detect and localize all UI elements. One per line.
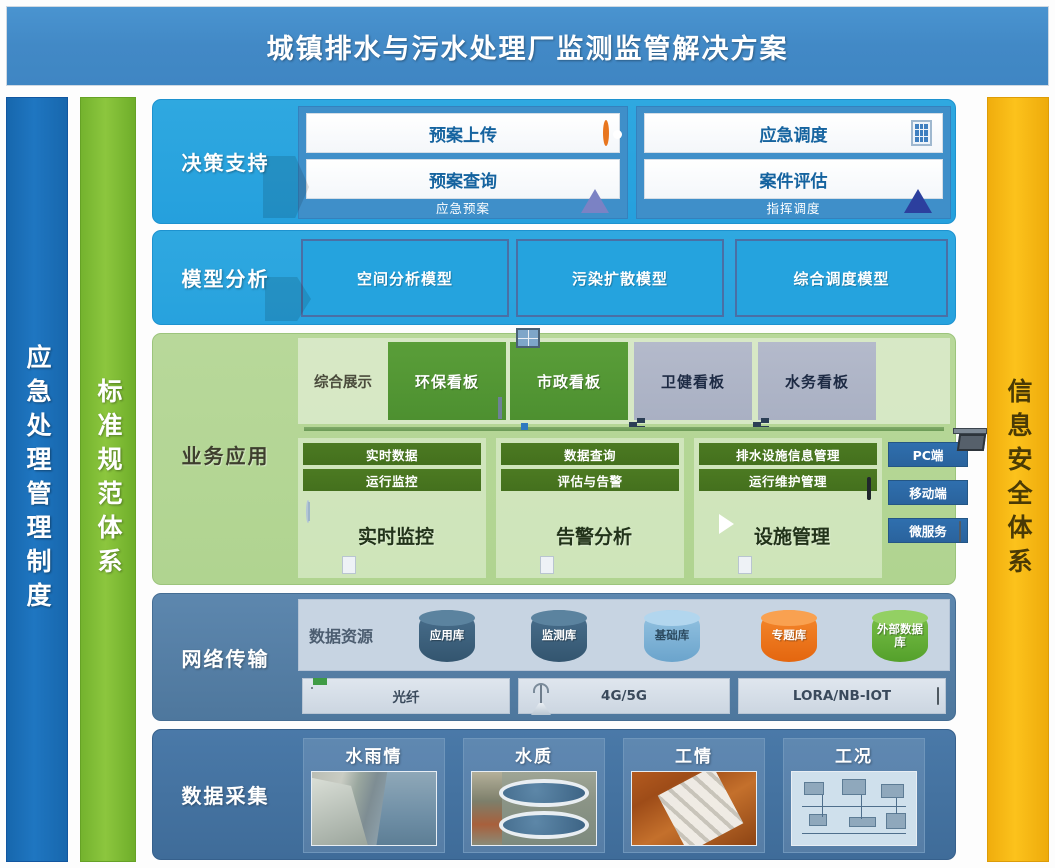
board-health-label: 卫健看板 [661,371,725,392]
diagram-title-bar: 城镇排水与污水处理厂监测监管解决方案 [6,6,1049,86]
business-feature-realtime-monitoring[interactable]: 实时监控 [298,500,486,570]
channel-lora-nbiot-label: LORA/NB-IOT [793,688,891,704]
layer-business-application: 业务应用 综合展示 环保看板 市政看板 卫健看板 水务看板 [152,333,956,585]
client-microservice-label: 微服务 [909,521,947,540]
emergency-dispatch-label: 应急调度 [760,121,828,146]
main-layers: 决策支持 预案上传 预案查询 应急预案 应急调度 [152,97,956,862]
database-application[interactable]: 应用库 [419,610,475,662]
data-collection-item-operating-condition[interactable]: 工况 [783,738,925,853]
layer-data-collection-label: 数据采集 [153,730,298,859]
window-icon [516,328,540,348]
photo-river-channel [311,771,437,846]
sidebar-information-security: 信息安全体系 [987,97,1049,862]
model-item-pollution-diffusion[interactable]: 污染扩散模型 [516,239,724,317]
layer-network-transmission-label: 网络传输 [153,594,298,720]
board-municipal-label: 市政看板 [537,371,601,392]
database-foundation[interactable]: 基础库 [644,610,700,662]
photo-treatment-plant [471,771,597,846]
database-external[interactable]: 外部数据库 [872,610,928,662]
database-foundation-label: 基础库 [644,610,700,662]
business-feature-realtime-monitoring-label: 实时监控 [358,522,434,549]
decision-support-group-command-dispatch-footer: 指挥调度 [637,198,950,216]
business-item-drainage-facility-info[interactable]: 排水设施信息管理 [699,443,877,465]
data-resource-panel: 数据资源 应用库 监测库 基础库 [298,599,950,671]
sidebar-information-security-label: 信息安全体系 [1000,378,1036,582]
cycle-icon [603,123,609,143]
globe-icon [306,502,310,521]
layer-model-analysis: 模型分析 空间分析模型 污染扩散模型 综合调度模型 [152,230,956,325]
decision-support-item-case-assessment[interactable]: 案件评估 [644,159,943,199]
data-collection-item-water-quality-label: 水质 [464,739,604,769]
plan-query-label: 预案查询 [429,167,497,192]
case-assessment-label: 案件评估 [760,167,828,192]
database-external-label: 外部数据库 [872,610,928,662]
page-title: 城镇排水与污水处理厂监测监管解决方案 [267,27,789,66]
database-thematic[interactable]: 专题库 [761,610,817,662]
layer-decision-support: 决策支持 预案上传 预案查询 应急预案 应急调度 [152,99,956,224]
business-boards-strip: 综合展示 环保看板 市政看板 卫健看板 水务看板 [298,338,950,424]
board-water-affairs-label: 水务看板 [785,371,849,392]
board-environmental[interactable]: 环保看板 [388,342,506,420]
layer-model-analysis-label: 模型分析 [153,231,298,324]
channel-fiber-label: 光纤 [393,686,420,706]
channel-fiber[interactable]: 光纤 [302,678,510,714]
board-environmental-label: 环保看板 [415,371,479,392]
decision-support-group-emergency-plan: 预案上传 预案查询 应急预案 [298,106,628,219]
business-feature-facility-management[interactable]: 设施管理 [694,500,882,570]
business-item-assessment-alarm[interactable]: 评估与告警 [501,469,679,491]
decision-support-group-command-dispatch: 应急调度 案件评估 指挥调度 [636,106,951,219]
decision-support-item-emergency-dispatch[interactable]: 应急调度 [644,113,943,153]
document-icon [540,556,554,574]
sidebar-emergency-management-label: 应急处理管理制度 [19,344,55,616]
client-microservice[interactable]: 微服务 [888,518,968,543]
document-icon [342,556,356,574]
client-pc[interactable]: PC端 [888,442,968,467]
layer-network-transmission: 网络传输 数据资源 应用库 监测库 基础库 [152,593,956,721]
business-feature-facility-management-label: 设施管理 [754,522,830,549]
business-feature-alarm-analysis[interactable]: 告警分析 [496,500,684,570]
business-item-operation-maintenance[interactable]: 运行维护管理 [699,469,877,491]
data-collection-item-engineering-status-label: 工情 [624,739,764,769]
database-monitoring[interactable]: 监测库 [531,610,587,662]
plan-upload-label: 预案上传 [429,121,497,146]
board-health[interactable]: 卫健看板 [634,342,752,420]
database-application-label: 应用库 [419,610,475,662]
channel-4g5g-label: 4G/5G [601,688,647,704]
data-collection-item-water-quality[interactable]: 水质 [463,738,605,853]
board-municipal[interactable]: 市政看板 [510,342,628,420]
comprehensive-display-label: 综合展示 [304,338,382,424]
sidebar-standards-system: 标准规范体系 [80,97,136,862]
document-icon [738,556,752,574]
decision-support-item-plan-upload[interactable]: 预案上传 [306,113,620,153]
business-column-monitoring: 实时数据 运行监控 实时监控 [298,438,486,578]
phone-icon [867,479,871,498]
diagram-page: 城镇排水与污水处理厂监测监管解决方案 应急处理管理制度 标准规范体系 信息安全体… [0,0,1055,868]
channel-lora-nbiot[interactable]: LORA/NB-IOT [738,678,946,714]
sidebar-emergency-management: 应急处理管理制度 [6,97,68,862]
database-monitoring-label: 监测库 [531,610,587,662]
decision-support-group-emergency-plan-footer: 应急预案 [299,198,627,216]
business-item-operation-monitoring[interactable]: 运行监控 [303,469,481,491]
lora-icon [937,688,939,704]
pyramid-dark-icon [904,169,932,189]
data-collection-item-operating-condition-label: 工况 [784,739,924,769]
business-divider-marker [521,423,528,430]
decision-support-item-plan-query[interactable]: 预案查询 [306,159,620,199]
layer-business-application-label: 业务应用 [153,394,298,514]
business-item-realtime-data[interactable]: 实时数据 [303,443,481,465]
data-collection-item-hydrology[interactable]: 水雨情 [303,738,445,853]
mouse-icon [959,522,961,541]
client-mobile[interactable]: 移动端 [888,480,968,505]
sidebar-standards-system-label: 标准规范体系 [90,378,126,582]
client-pc-label: PC端 [913,445,944,464]
business-column-facility: 排水设施信息管理 运行维护管理 设施管理 [694,438,882,578]
channel-4g5g[interactable]: 4G/5G [518,678,730,714]
layer-decision-support-label: 决策支持 [153,100,298,223]
pyramid-icon [581,169,609,189]
photo-pipe-trench [631,771,757,846]
model-item-integrated-dispatch[interactable]: 综合调度模型 [735,239,948,317]
database-thematic-label: 专题库 [761,610,817,662]
board-water-affairs[interactable]: 水务看板 [758,342,876,420]
data-collection-item-hydrology-label: 水雨情 [304,739,444,769]
data-resource-label: 数据资源 [309,623,373,647]
monitor-icon [498,399,502,417]
grid-table-icon [911,120,932,146]
model-item-spatial-analysis[interactable]: 空间分析模型 [301,239,509,317]
data-collection-item-engineering-status[interactable]: 工情 [623,738,765,853]
business-feature-alarm-analysis-label: 告警分析 [556,522,632,549]
photo-scada-schematic [791,771,917,846]
client-mobile-label: 移动端 [909,483,947,502]
business-divider [304,427,944,431]
layer-data-collection: 数据采集 水雨情 水质 工情 工况 [152,729,956,860]
network-channels: 光纤 4G/5G LORA/NB-IOT [298,676,950,716]
business-item-data-query[interactable]: 数据查询 [501,443,679,465]
business-column-query: 数据查询 评估与告警 告警分析 [496,438,684,578]
